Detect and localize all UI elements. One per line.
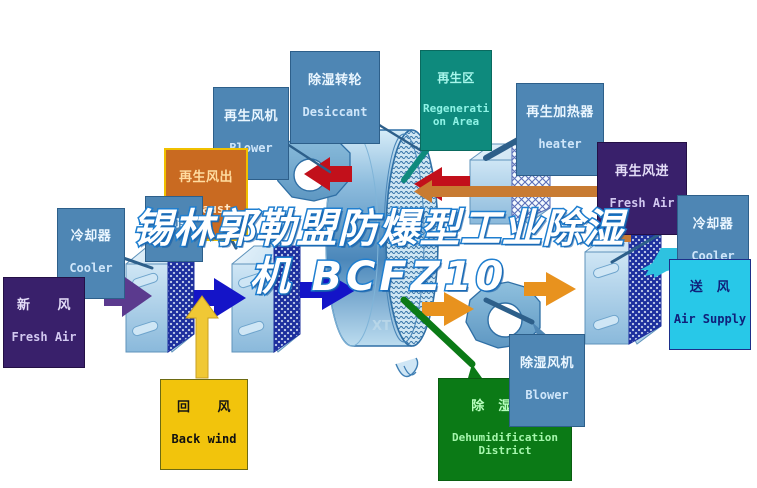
label-regeneration-fresh-air: 再生风进 Fresh Air: [597, 142, 687, 235]
label-regeneration-heater-en: heater: [519, 138, 601, 151]
label-regeneration-fresh-air-en: Fresh Air: [600, 197, 684, 210]
dehumidifier-diagram-canvas: XT: [0, 0, 757, 488]
label-cooler-left-cn: 冷却器: [60, 230, 122, 245]
label-cooler-left-upper-cn: 冷却器: [148, 218, 200, 231]
label-air-supply-en: Air Supply: [672, 313, 748, 326]
label-fresh-air: 新 风 Fresh Air: [3, 277, 85, 368]
label-regeneration-heater: 再生加热器 heater: [516, 83, 604, 176]
label-air-supply-cn: 送 风: [672, 281, 748, 296]
label-cooler-left-en: Cooler: [60, 262, 122, 275]
label-cooler-left-upper: 冷却器: [145, 196, 203, 262]
label-dehumidification-district-en: Dehumidification District: [441, 432, 569, 457]
cooler-right-graphic: [585, 234, 661, 344]
label-regeneration-fresh-air-cn: 再生风进: [600, 165, 684, 180]
label-fresh-air-en: Fresh Air: [6, 331, 82, 344]
label-desiccant-wheel: 除湿转轮 Desiccant: [290, 51, 380, 144]
label-dehumidification-blower-cn: 除湿风机: [512, 357, 582, 372]
label-regeneration-blower-cn: 再生风机: [216, 110, 286, 125]
label-dehumidification-blower: 除湿风机 Blower: [509, 334, 585, 427]
label-regeneration-area: 再生区 Regenerati on Area: [420, 50, 492, 151]
label-exhaust-cn: 再生风出: [168, 171, 244, 186]
svg-text:XT: XT: [372, 319, 391, 334]
label-fresh-air-cn: 新 风: [6, 299, 82, 314]
label-air-supply: 送 风 Air Supply: [669, 259, 751, 350]
label-back-wind-en: Back wind: [163, 433, 245, 446]
label-desiccant-wheel-en: Desiccant: [293, 106, 377, 119]
label-regeneration-area-en: Regenerati on Area: [423, 103, 489, 128]
label-cooler-right-cn: 冷却器: [680, 218, 746, 233]
label-regeneration-heater-cn: 再生加热器: [519, 106, 601, 121]
label-back-wind-cn: 回 风: [163, 401, 245, 416]
label-dehumidification-blower-en: Blower: [512, 389, 582, 402]
label-desiccant-wheel-cn: 除湿转轮: [293, 74, 377, 89]
label-regeneration-area-cn: 再生区: [423, 72, 489, 85]
label-back-wind: 回 风 Back wind: [160, 379, 248, 470]
